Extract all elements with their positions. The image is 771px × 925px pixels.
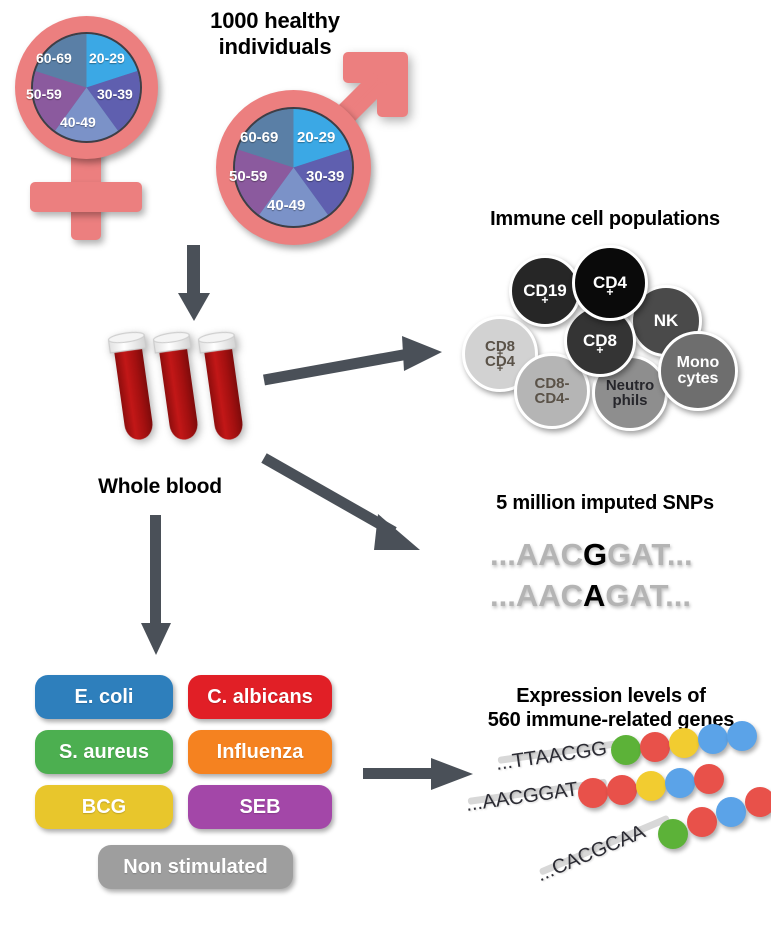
stimulus-non-stimulated[interactable]: Non stimulated <box>98 845 293 889</box>
cell-label-line2: CD4- <box>534 391 569 406</box>
male-pie-label-30-39: 30-39 <box>306 168 344 185</box>
snp-allele-line-1: ...AACGGAT... <box>490 537 693 573</box>
snp-suffix: GAT... <box>605 578 691 613</box>
cell-label-line2: CD4+ <box>485 354 515 369</box>
stimulus-label: Influenza <box>217 741 304 764</box>
snp-variant: A <box>583 578 605 613</box>
expression-bead <box>745 787 771 817</box>
male-pie-label-60-69: 60-69 <box>240 129 278 146</box>
cohort-title-line1: 1000 healthy <box>175 8 375 34</box>
expression-bead <box>658 819 688 849</box>
expression-bead <box>640 732 670 762</box>
expression-bead <box>698 724 728 754</box>
female-pie-label-60-69: 60-69 <box>36 50 72 66</box>
expression-bead <box>607 775 637 805</box>
expression-bead <box>687 807 717 837</box>
female-pie-label-30-39: 30-39 <box>97 86 133 102</box>
expression-bead <box>636 771 666 801</box>
expression-bead <box>665 768 695 798</box>
cell-label: CD8+ <box>583 332 617 349</box>
expression-bead <box>578 778 608 808</box>
male-pie-label-20-29: 20-29 <box>297 129 335 146</box>
snp-prefix: ...AAC <box>490 537 583 572</box>
immune-cell-cluster: CD8+ CD4+ CD8- CD4- Neutro phils NK Mono… <box>452 243 752 418</box>
stimulus-bcg[interactable]: BCG <box>35 785 173 829</box>
expression-bead <box>716 797 746 827</box>
female-symbol: 20-29 30-39 40-49 50-59 60-69 <box>8 10 188 245</box>
female-pie-label-40-49: 40-49 <box>60 114 96 130</box>
expression-bead <box>611 735 641 765</box>
male-pie-label-40-49: 40-49 <box>267 197 305 214</box>
cell-cd4: CD4+ <box>572 245 648 321</box>
female-stem-cross <box>30 182 142 212</box>
arrow-blood-to-snps <box>262 440 462 570</box>
cell-monocytes: Mono cytes <box>658 331 738 411</box>
figure-canvas: 1000 healthy individuals 20-29 30-39 40-… <box>0 0 771 922</box>
arrow-blood-to-immune <box>262 330 462 400</box>
cell-label-line2: cytes <box>677 371 720 387</box>
male-symbol: 20-29 30-39 40-49 50-59 60-69 <box>198 45 418 250</box>
blood-tubes <box>106 332 246 457</box>
expression-bead <box>694 764 724 794</box>
whole-blood-label: Whole blood <box>60 475 260 500</box>
stimulus-label: Non stimulated <box>123 856 267 879</box>
expression-bead <box>669 728 699 758</box>
stimulus-s-aureus[interactable]: S. aureus <box>35 730 173 774</box>
cell-label: CD19+ <box>523 282 566 299</box>
female-pie-label-20-29: 20-29 <box>89 50 125 66</box>
cell-label-line1: CD8+ <box>485 339 515 354</box>
stimulus-label: S. aureus <box>59 741 149 764</box>
cell-label-line1: Neutro <box>606 378 654 393</box>
gene-strand-3: ...CACGCAA <box>540 855 771 925</box>
cell-cd19: CD19+ <box>509 255 581 327</box>
immune-title: Immune cell populations <box>452 208 758 232</box>
cell-label: NK <box>654 312 679 329</box>
stimulus-label: C. albicans <box>207 686 313 709</box>
stimulus-influenza[interactable]: Influenza <box>188 730 332 774</box>
expression-title-line1: Expression levels of <box>455 685 767 709</box>
gene-sequence-1: ...TTAACGG <box>494 738 608 776</box>
stimulus-e-coli[interactable]: E. coli <box>35 675 173 719</box>
stimulus-label: SEB <box>239 796 280 819</box>
snp-allele-line-2: ...AACAGAT... <box>490 578 691 614</box>
male-pie-label-50-59: 50-59 <box>229 168 267 185</box>
stimulus-label: BCG <box>82 796 126 819</box>
stimulus-label: E. coli <box>75 686 134 709</box>
snp-suffix: GAT... <box>607 537 693 572</box>
stimulus-seb[interactable]: SEB <box>188 785 332 829</box>
cell-label: CD4+ <box>593 274 627 291</box>
expression-bead <box>727 721 757 751</box>
arrow-cohort-to-blood <box>165 245 225 325</box>
snp-variant: G <box>583 537 607 572</box>
arrow-blood-to-stimuli <box>128 515 188 660</box>
cell-label-line1: Mono <box>677 355 720 371</box>
cell-label-line1: CD8- <box>534 376 569 391</box>
female-pie-label-50-59: 50-59 <box>26 86 62 102</box>
cell-label-line2: phils <box>606 393 654 408</box>
snps-title: 5 million imputed SNPs <box>452 492 758 516</box>
snp-prefix: ...AAC <box>490 578 583 613</box>
stimulus-c-albicans[interactable]: C. albicans <box>188 675 332 719</box>
